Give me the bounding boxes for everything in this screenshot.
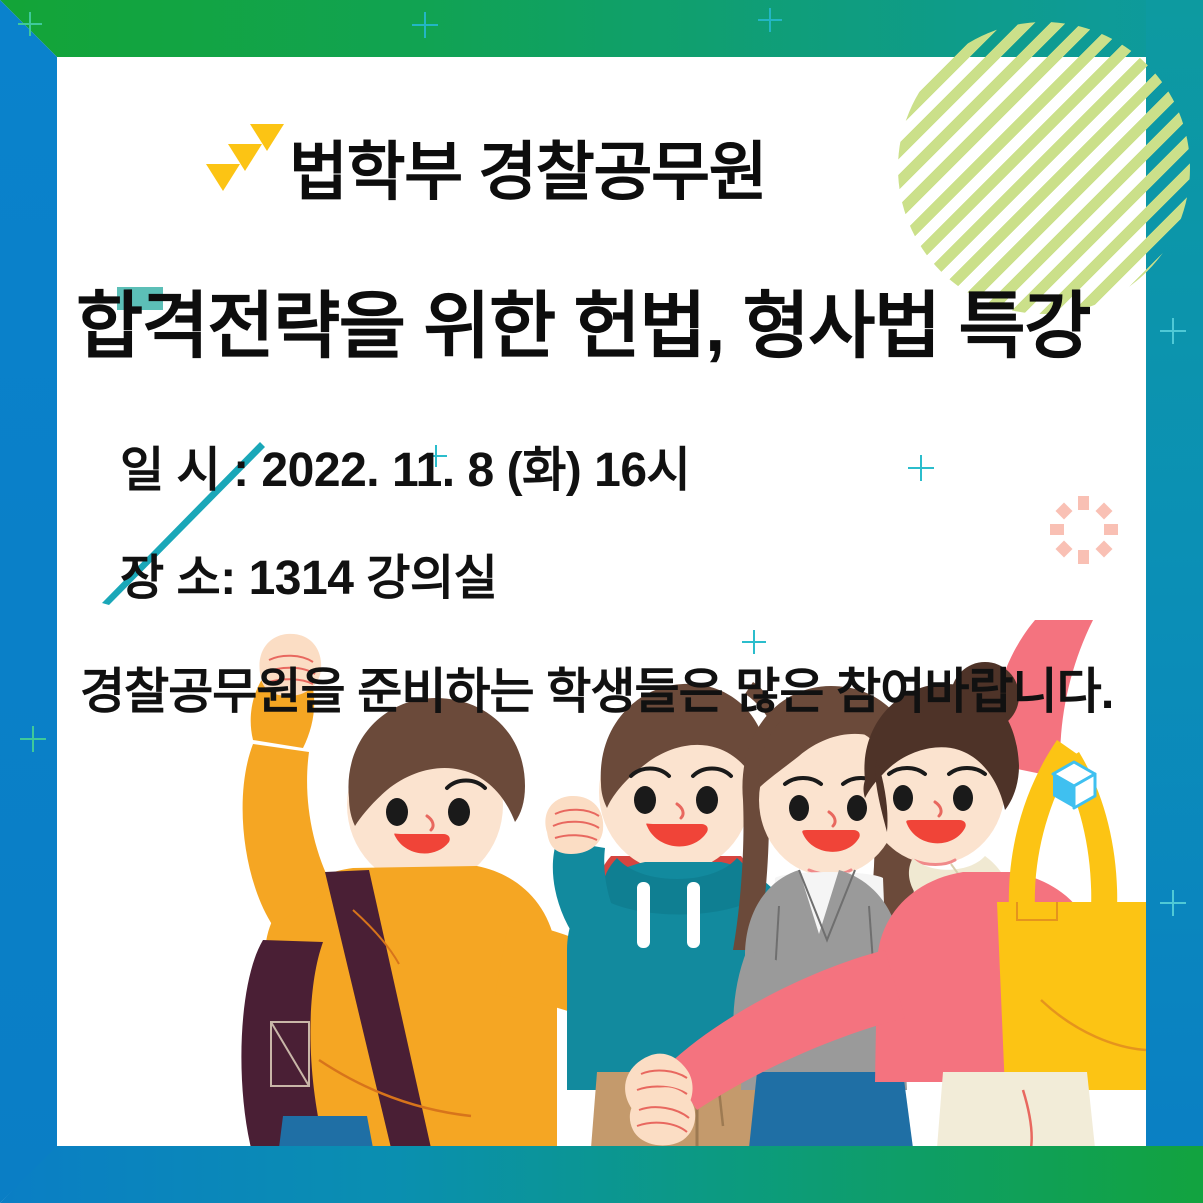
plus-cross-icon (412, 12, 438, 38)
plus-cross-icon (18, 12, 42, 36)
teal-diagonal-line-decoration (100, 440, 270, 605)
yellow-triangles-decoration (206, 124, 296, 194)
frame-band-left (0, 0, 57, 1203)
stripe-pattern (898, 22, 1190, 314)
triangle-icon (250, 124, 284, 151)
plus-cross-icon (742, 630, 766, 654)
teal-highlight-block (117, 287, 163, 310)
striped-circle-decoration (898, 22, 1190, 314)
plus-cross-icon (1160, 318, 1186, 344)
plus-cross-icon (425, 445, 447, 467)
plus-cross-icon (758, 8, 782, 32)
poster-canvas: 법학부 경찰공무원 합격전략을 위한 헌법, 형사법 특강 일 시 : 2022… (0, 0, 1203, 1203)
plus-cross-icon (1160, 890, 1186, 916)
plus-cross-icon (908, 455, 934, 481)
pink-sparkle-burst-icon (1050, 496, 1118, 564)
blue-cube-icon (1051, 760, 1097, 810)
frame-band-bottom (0, 1146, 1203, 1203)
students-illustration (57, 620, 1146, 1148)
page-title-line-1: 법학부 경찰공무원 (289, 140, 766, 204)
plus-cross-icon (20, 726, 46, 752)
